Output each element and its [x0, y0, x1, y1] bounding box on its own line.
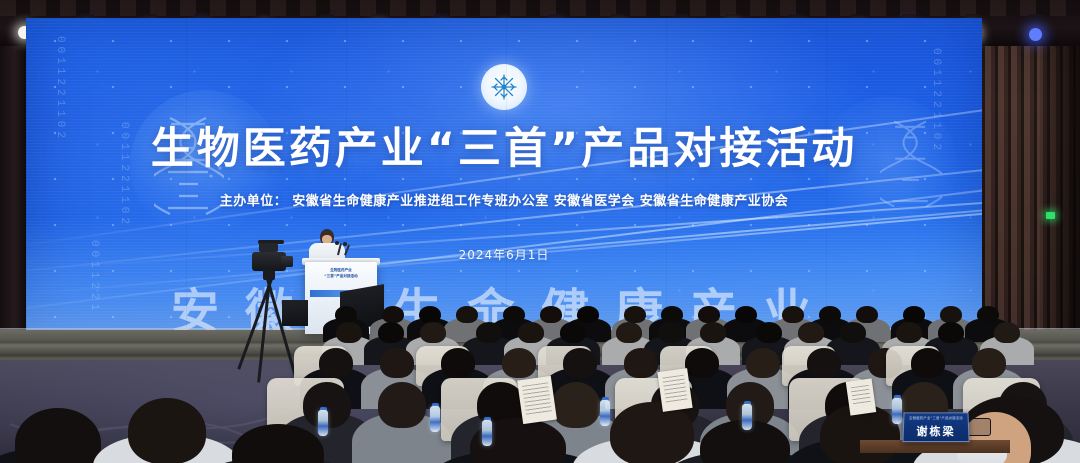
audience-member-head [503, 306, 525, 323]
emblem-glyph [489, 72, 519, 102]
audience-member-head [798, 322, 824, 343]
audience-member-head [456, 306, 478, 323]
audience-member-head [624, 306, 646, 323]
audience-member-head [819, 306, 841, 323]
microphone-head-1 [335, 241, 339, 245]
event-headline: 生物医药产业“三首”产品对接活动 [26, 114, 982, 176]
audience-member-head [840, 322, 866, 343]
audience-member-head [441, 348, 475, 378]
audience-member-head [420, 322, 446, 343]
audience-member-head [685, 348, 719, 378]
microphone-head-2 [343, 242, 347, 246]
left-wall-column [0, 0, 26, 340]
foreground-audience-head [128, 398, 206, 463]
conference-photo: 5 [0, 0, 1080, 463]
audience-member-head [911, 348, 945, 378]
water-bottle [600, 400, 610, 426]
placard-name-text: 谢栋梁 [904, 423, 969, 439]
audience-member-head [746, 348, 780, 378]
audience-member-head [378, 382, 426, 428]
audience-member-head [938, 322, 964, 343]
event-date: 2024年6月1日 [26, 246, 982, 263]
audience-member-head [335, 306, 357, 323]
foreground-audience-head [610, 402, 694, 463]
name-placard: 生物医药产业“三首”产品对接活动 谢栋梁 [902, 412, 969, 442]
audience-member-head [856, 306, 878, 323]
audience-member-head [336, 322, 362, 343]
audience-member-head [518, 322, 544, 343]
audience-member-head [476, 322, 502, 343]
podium-title-line-1: 生物医药产业 [312, 268, 370, 273]
audience-member-head [577, 306, 599, 323]
audience-member-head [563, 348, 597, 378]
document-text-lines [522, 382, 552, 415]
water-bottle [742, 404, 752, 430]
audience-member-head [972, 348, 1006, 378]
led-backdrop-screen: 0011221102 0011221102 0011221 0011221102 [26, 18, 982, 336]
audience-member-head [782, 306, 804, 323]
audience-member-head [319, 348, 353, 378]
audience-member-head [940, 306, 962, 323]
document-text-lines [662, 375, 687, 404]
audience-member-head [419, 306, 441, 323]
audience-member-head [698, 306, 720, 323]
camera-top-unit [259, 243, 278, 252]
stage-monitor-left [282, 300, 308, 326]
water-bottle [482, 420, 492, 446]
audience-member-head [994, 322, 1020, 343]
audience-member-head [540, 306, 562, 323]
audience-member-head [807, 348, 841, 378]
audience-member-head [616, 322, 642, 343]
audience-member-head [661, 306, 683, 323]
water-bottle [892, 398, 902, 424]
audience-member-head [378, 322, 404, 343]
audience-member-head [977, 306, 999, 323]
radial-snowflake-emblem [481, 64, 527, 110]
audience-member-head [502, 348, 536, 378]
truss-lamp-blue [1029, 28, 1042, 41]
podium-title-line-2: “三首”产品对接活动 [312, 274, 370, 279]
camera-lens [281, 256, 293, 267]
audience-member-head [624, 348, 658, 378]
exit-light-icon [1046, 212, 1055, 219]
truss-lamp-housing [1028, 14, 1042, 25]
audience-member-head [896, 322, 922, 343]
document-text-lines [851, 385, 872, 407]
audience-member-head [658, 322, 684, 343]
audience-member-head [382, 306, 404, 323]
audience-member-head [560, 322, 586, 343]
event-organizers: 主办单位： 安徽省生命健康产业推进组工作专班办公室 安徽省医学会 安徽省生命健康… [26, 190, 982, 209]
water-bottle [430, 406, 440, 432]
audience-member-head [756, 322, 782, 343]
water-bottle [318, 410, 328, 436]
audience-member-head [700, 322, 726, 343]
truss-beam [0, 0, 1080, 16]
audience-member-head [552, 382, 600, 428]
audience-member-head [735, 306, 757, 323]
placard-org-line: 生物医药产业“三首”产品对接活动 [904, 415, 967, 420]
audience-member-head [903, 306, 925, 323]
audience-member-head [380, 348, 414, 378]
